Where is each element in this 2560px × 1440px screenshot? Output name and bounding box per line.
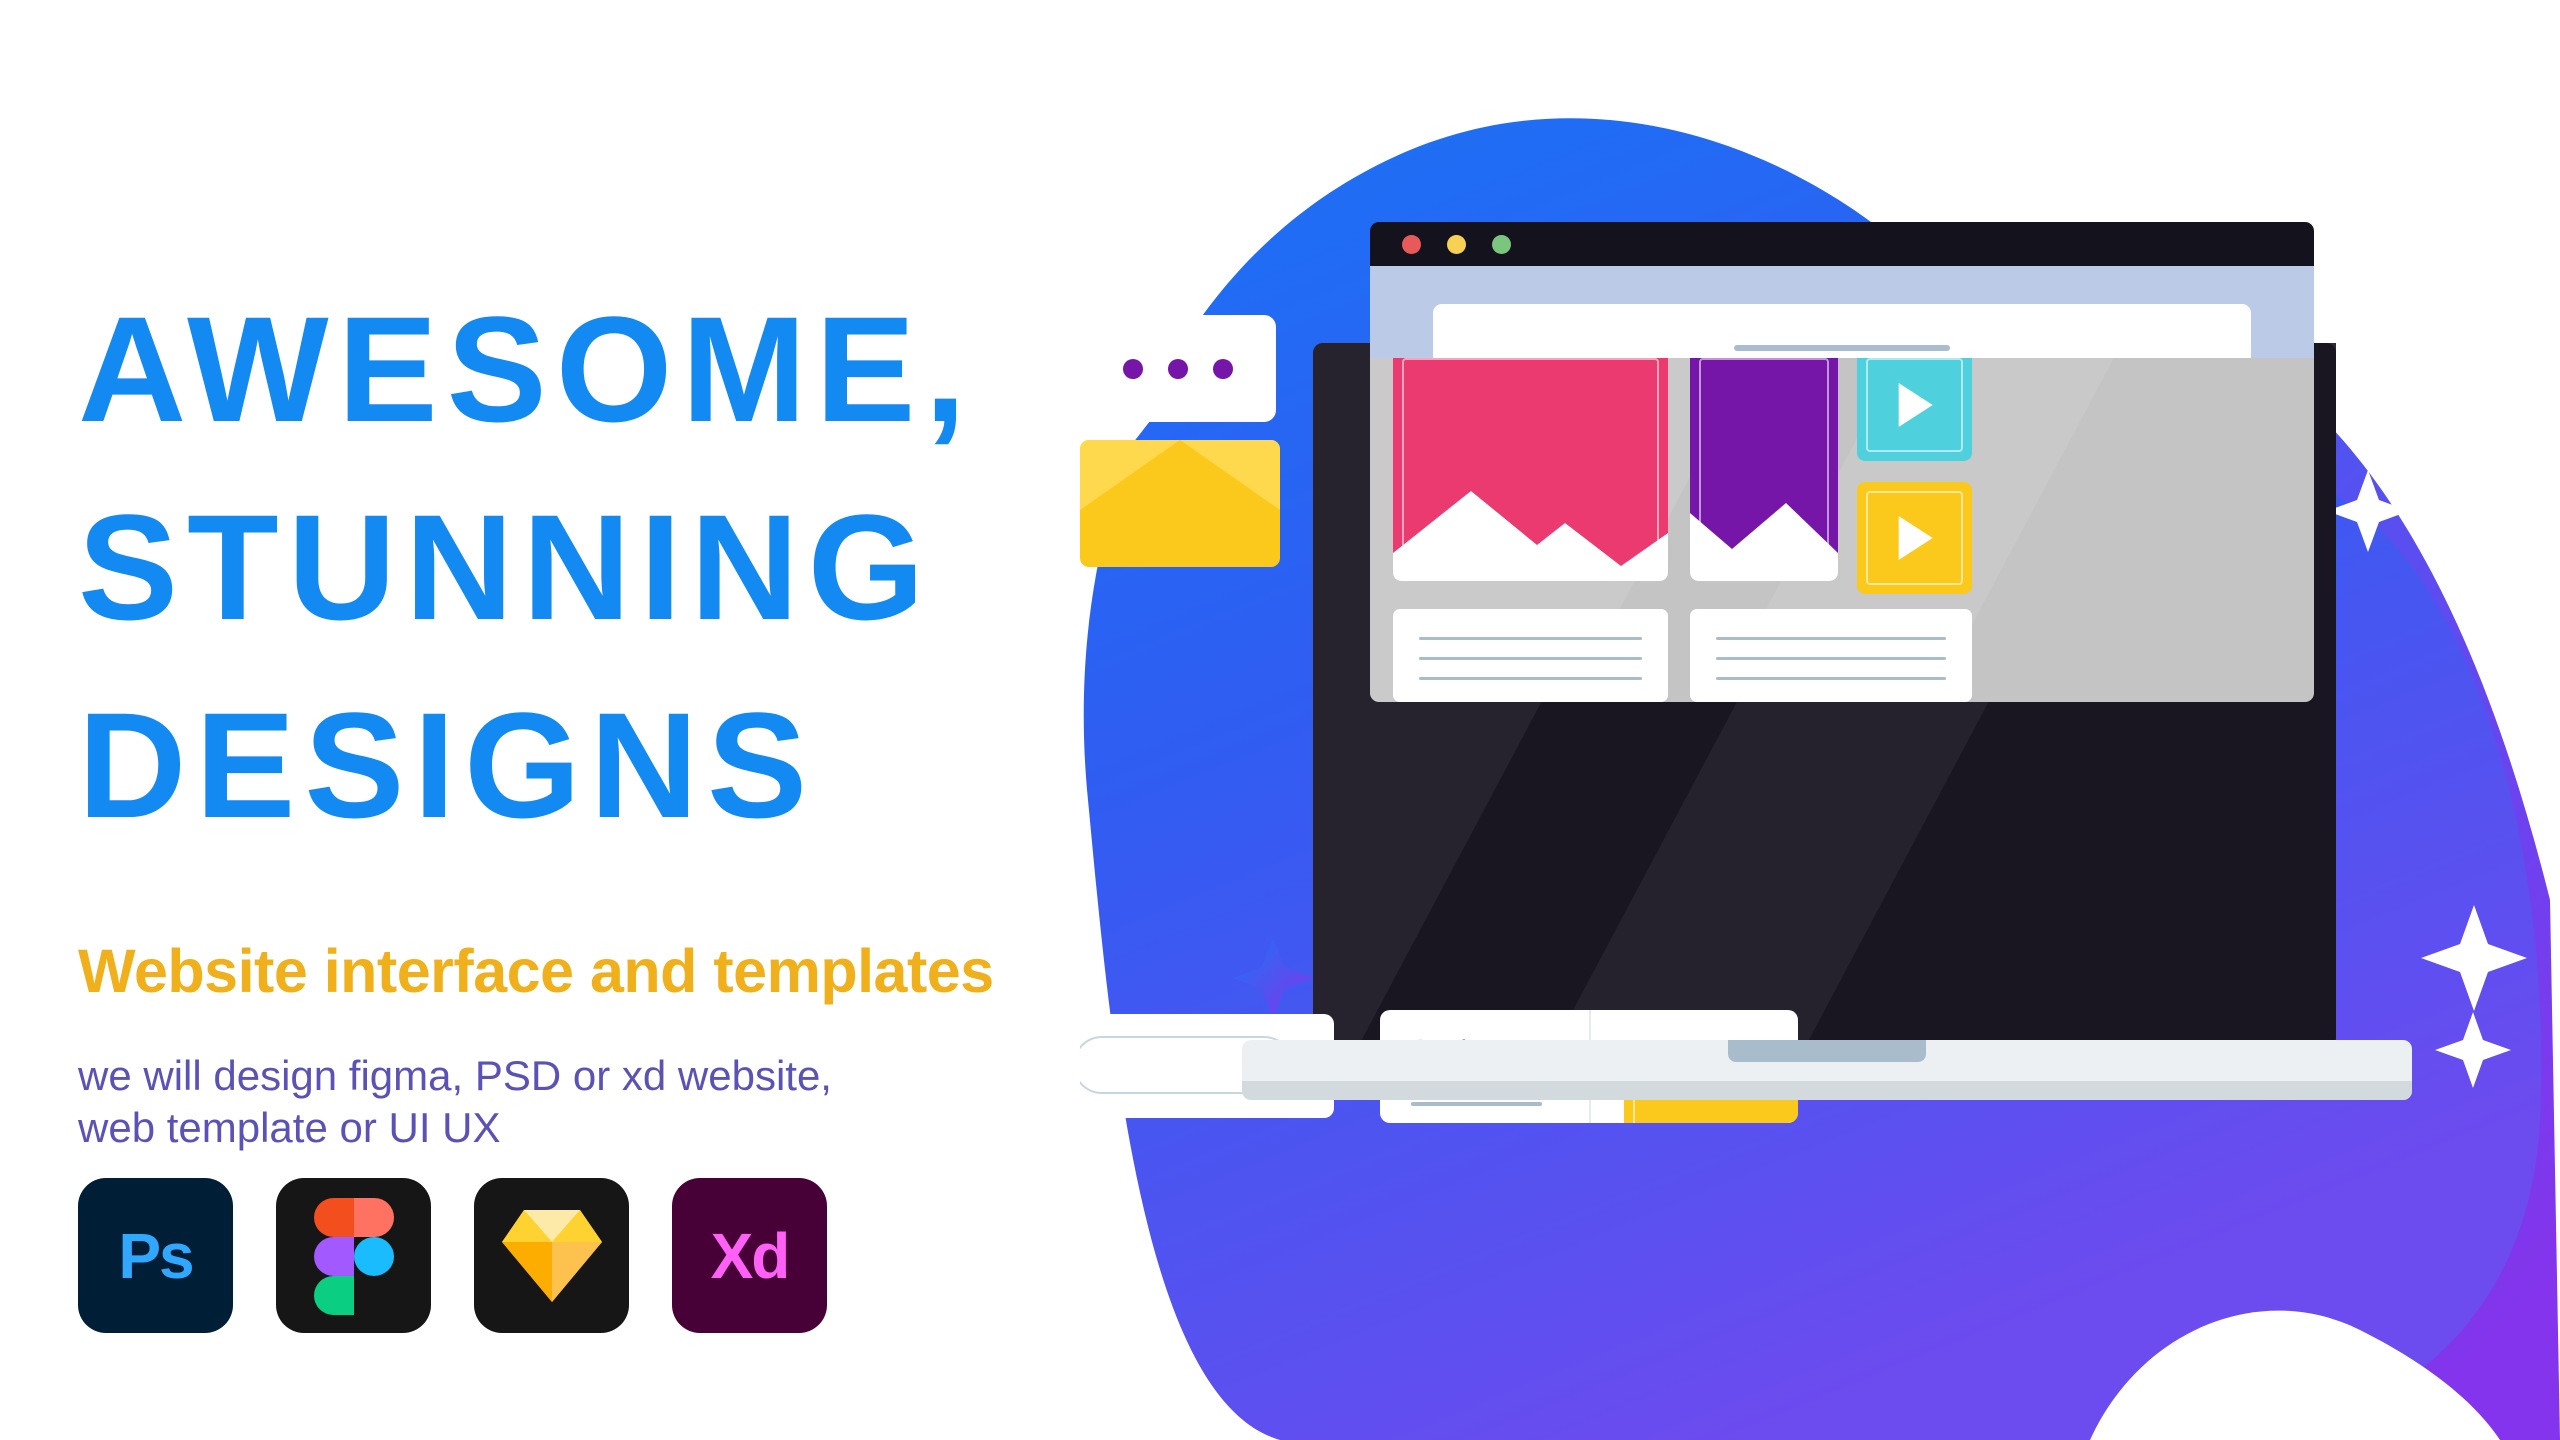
url-placeholder-line — [1734, 345, 1950, 351]
typing-dots — [1080, 315, 1276, 422]
text-card-right — [1690, 609, 1972, 702]
text-line — [1716, 637, 1946, 640]
video-card-teal[interactable] — [1857, 358, 1972, 461]
chat-bubble-icon — [1080, 315, 1276, 422]
adobe-xd-icon[interactable]: Xd — [672, 1178, 827, 1333]
text-column: AWESOME, STUNNING DESIGNS Website interf… — [78, 270, 1098, 1154]
image-card-purple[interactable] — [1690, 358, 1838, 581]
sketch-diamond-glyph — [500, 1208, 604, 1304]
image-card-pink[interactable] — [1393, 358, 1668, 581]
body-copy: we will design figma, PSD or xd website,… — [78, 1050, 1098, 1154]
adobe-xd-icon-label: Xd — [711, 1219, 789, 1293]
envelope-flap — [1080, 440, 1280, 510]
text-card-left — [1393, 609, 1668, 702]
laptop-base-lip — [1242, 1081, 2412, 1100]
content-panel — [1370, 358, 2314, 702]
photoshop-icon[interactable]: Ps — [78, 1178, 233, 1333]
laptop-trackpad-notch — [1728, 1040, 1926, 1062]
text-line — [1419, 657, 1642, 660]
photoshop-icon-label: Ps — [118, 1219, 192, 1293]
typing-dot — [1213, 359, 1233, 379]
typing-dot — [1168, 359, 1188, 379]
subtitle: Website interface and templates — [78, 936, 1098, 1006]
figma-logo-mark — [314, 1198, 394, 1314]
close-dot-icon[interactable] — [1402, 235, 1421, 254]
figma-icon[interactable] — [276, 1178, 431, 1333]
maximize-dot-icon[interactable] — [1492, 235, 1511, 254]
typing-dot — [1123, 359, 1143, 379]
card-inner-border — [1402, 358, 1659, 572]
text-line — [1716, 657, 1946, 660]
laptop-base — [1242, 1040, 2412, 1100]
browser-titlebar — [1370, 222, 2314, 266]
envelope-icon — [1080, 440, 1280, 567]
sketch-icon[interactable] — [474, 1178, 629, 1333]
card-inner-border — [1699, 358, 1829, 572]
text-line — [1716, 677, 1946, 680]
hero-illustration: Settings — [1080, 0, 2560, 1440]
card-inner-border — [1866, 358, 1963, 452]
video-card-yellow[interactable] — [1857, 482, 1972, 594]
app-icon-row: Ps Xd — [78, 1178, 827, 1333]
page-title: AWESOME, STUNNING DESIGNS — [78, 270, 1098, 864]
text-line — [1419, 637, 1642, 640]
card-inner-border — [1866, 491, 1963, 585]
minimize-dot-icon[interactable] — [1447, 235, 1466, 254]
settings-line — [1411, 1102, 1542, 1106]
text-line — [1419, 677, 1642, 680]
poster-canvas: AWESOME, STUNNING DESIGNS Website interf… — [0, 0, 2560, 1440]
